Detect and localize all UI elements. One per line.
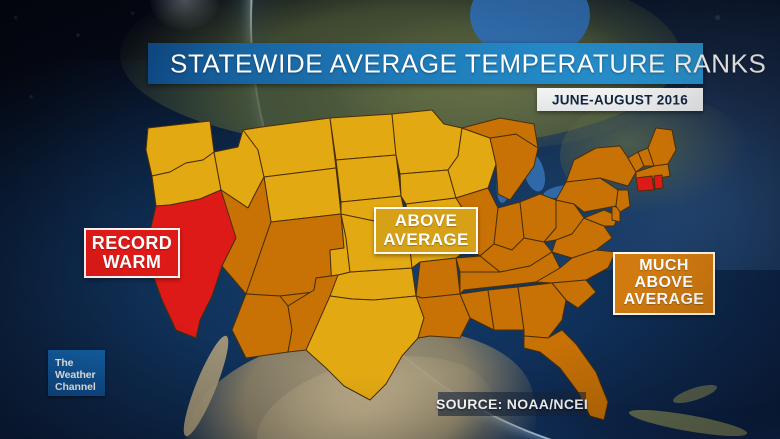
logo-line-3: Channel <box>55 382 96 393</box>
weather-map-graphic: STATEWIDE AVERAGE TEMPERATURE RANKS JUNE… <box>0 0 780 439</box>
source-strip: SOURCE: NOAA/NCEI <box>438 392 586 416</box>
legend-much-above-average: MUCH ABOVE AVERAGE <box>613 252 715 315</box>
state-connecticut <box>636 176 654 191</box>
legend-much-above-average-label: MUCH ABOVE AVERAGE <box>615 258 713 309</box>
period-label: JUNE-AUGUST 2016 <box>552 92 688 107</box>
state-arizona <box>232 294 292 358</box>
state-rhode-island <box>654 175 663 189</box>
title-banner: STATEWIDE AVERAGE TEMPERATURE RANKS <box>148 43 703 84</box>
page-title: STATEWIDE AVERAGE TEMPERATURE RANKS <box>170 48 766 79</box>
state-south-dakota <box>336 155 401 202</box>
state-arkansas <box>416 258 460 298</box>
legend-above-average: ABOVE AVERAGE <box>374 207 478 254</box>
legend-record-warm-label: RECORD WARM <box>86 234 178 272</box>
state-new-jersey <box>616 190 630 212</box>
weather-channel-logo[interactable]: The Weather Channel <box>48 350 105 396</box>
period-banner: JUNE-AUGUST 2016 <box>537 88 703 111</box>
state-louisiana <box>416 294 470 338</box>
state-north-dakota <box>330 114 396 160</box>
states-layer <box>146 110 676 420</box>
state-maine <box>648 128 676 166</box>
source-label: SOURCE: NOAA/NCEI <box>436 396 588 412</box>
state-wyoming <box>264 168 341 222</box>
legend-record-warm: RECORD WARM <box>84 228 180 278</box>
logo-line-2: Weather <box>55 370 96 381</box>
legend-above-average-label: ABOVE AVERAGE <box>376 212 476 248</box>
logo-line-1: The <box>55 358 73 369</box>
